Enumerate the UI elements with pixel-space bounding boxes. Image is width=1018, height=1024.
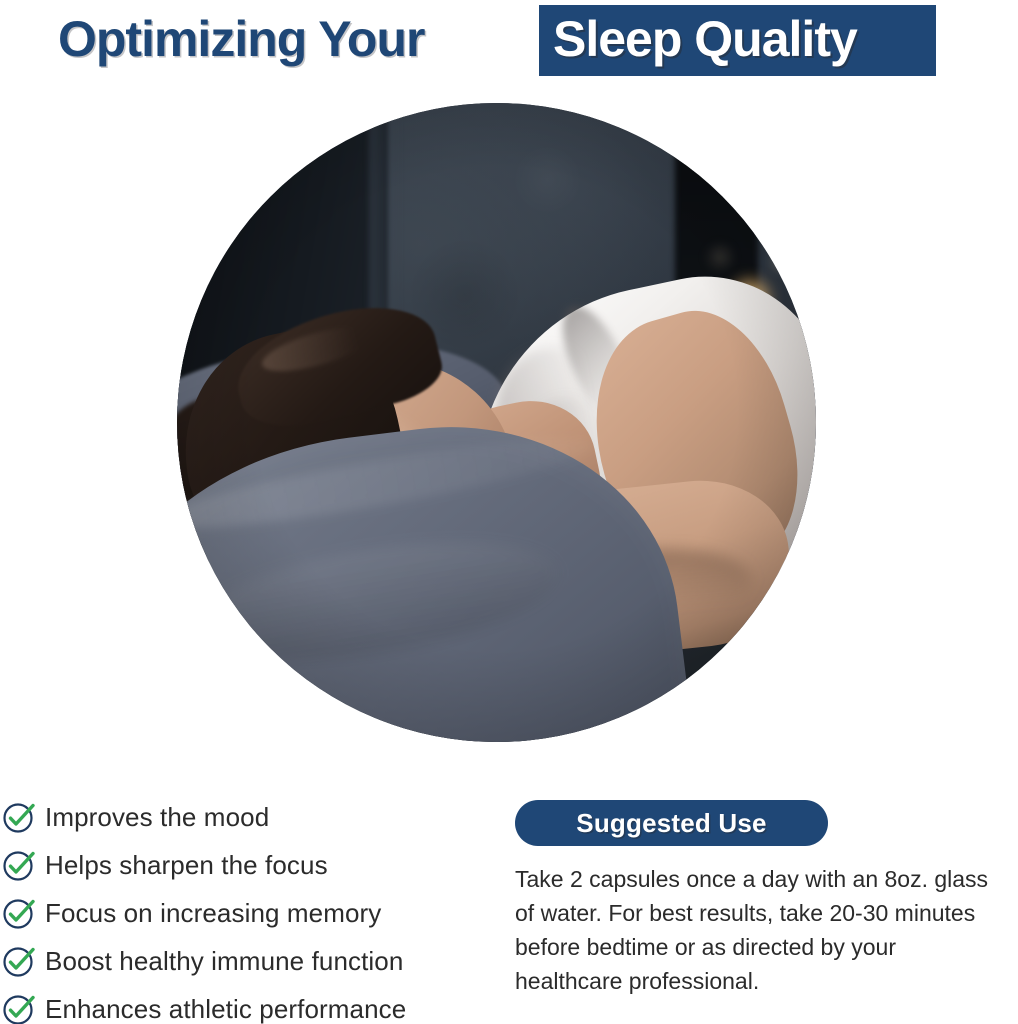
page-header: Optimizing Your Sleep Quality [0,0,1018,90]
list-item-label: Enhances athletic performance [45,994,406,1024]
check-circle-icon [2,896,36,930]
list-item-label: Focus on increasing memory [45,898,381,928]
photo-vignette [177,103,816,742]
check-circle-icon [2,992,36,1024]
benefits-list: Improves the mood Helps sharpen the focu… [2,793,482,1024]
check-circle-icon [2,848,36,882]
suggested-use-section: Suggested Use Take 2 capsules once a day… [515,800,1015,998]
check-circle-icon [2,800,36,834]
suggested-use-text: Take 2 capsules once a day with an 8oz. … [515,862,1002,998]
sleeping-woman-photo [177,103,816,742]
list-item: Boost healthy immune function [2,937,482,985]
list-item-label: Helps sharpen the focus [45,850,328,880]
check-circle-icon [2,944,36,978]
page-title-highlight: Sleep Quality [553,4,857,74]
list-item: Improves the mood [2,793,482,841]
list-item-label: Boost healthy immune function [45,946,403,976]
suggested-use-badge-label: Suggested Use [576,808,766,839]
page-title-plain: Optimizing Your [58,4,424,74]
list-item: Enhances athletic performance [2,985,482,1024]
list-item: Focus on increasing memory [2,889,482,937]
list-item: Helps sharpen the focus [2,841,482,889]
suggested-use-badge: Suggested Use [515,800,828,846]
list-item-label: Improves the mood [45,802,269,832]
